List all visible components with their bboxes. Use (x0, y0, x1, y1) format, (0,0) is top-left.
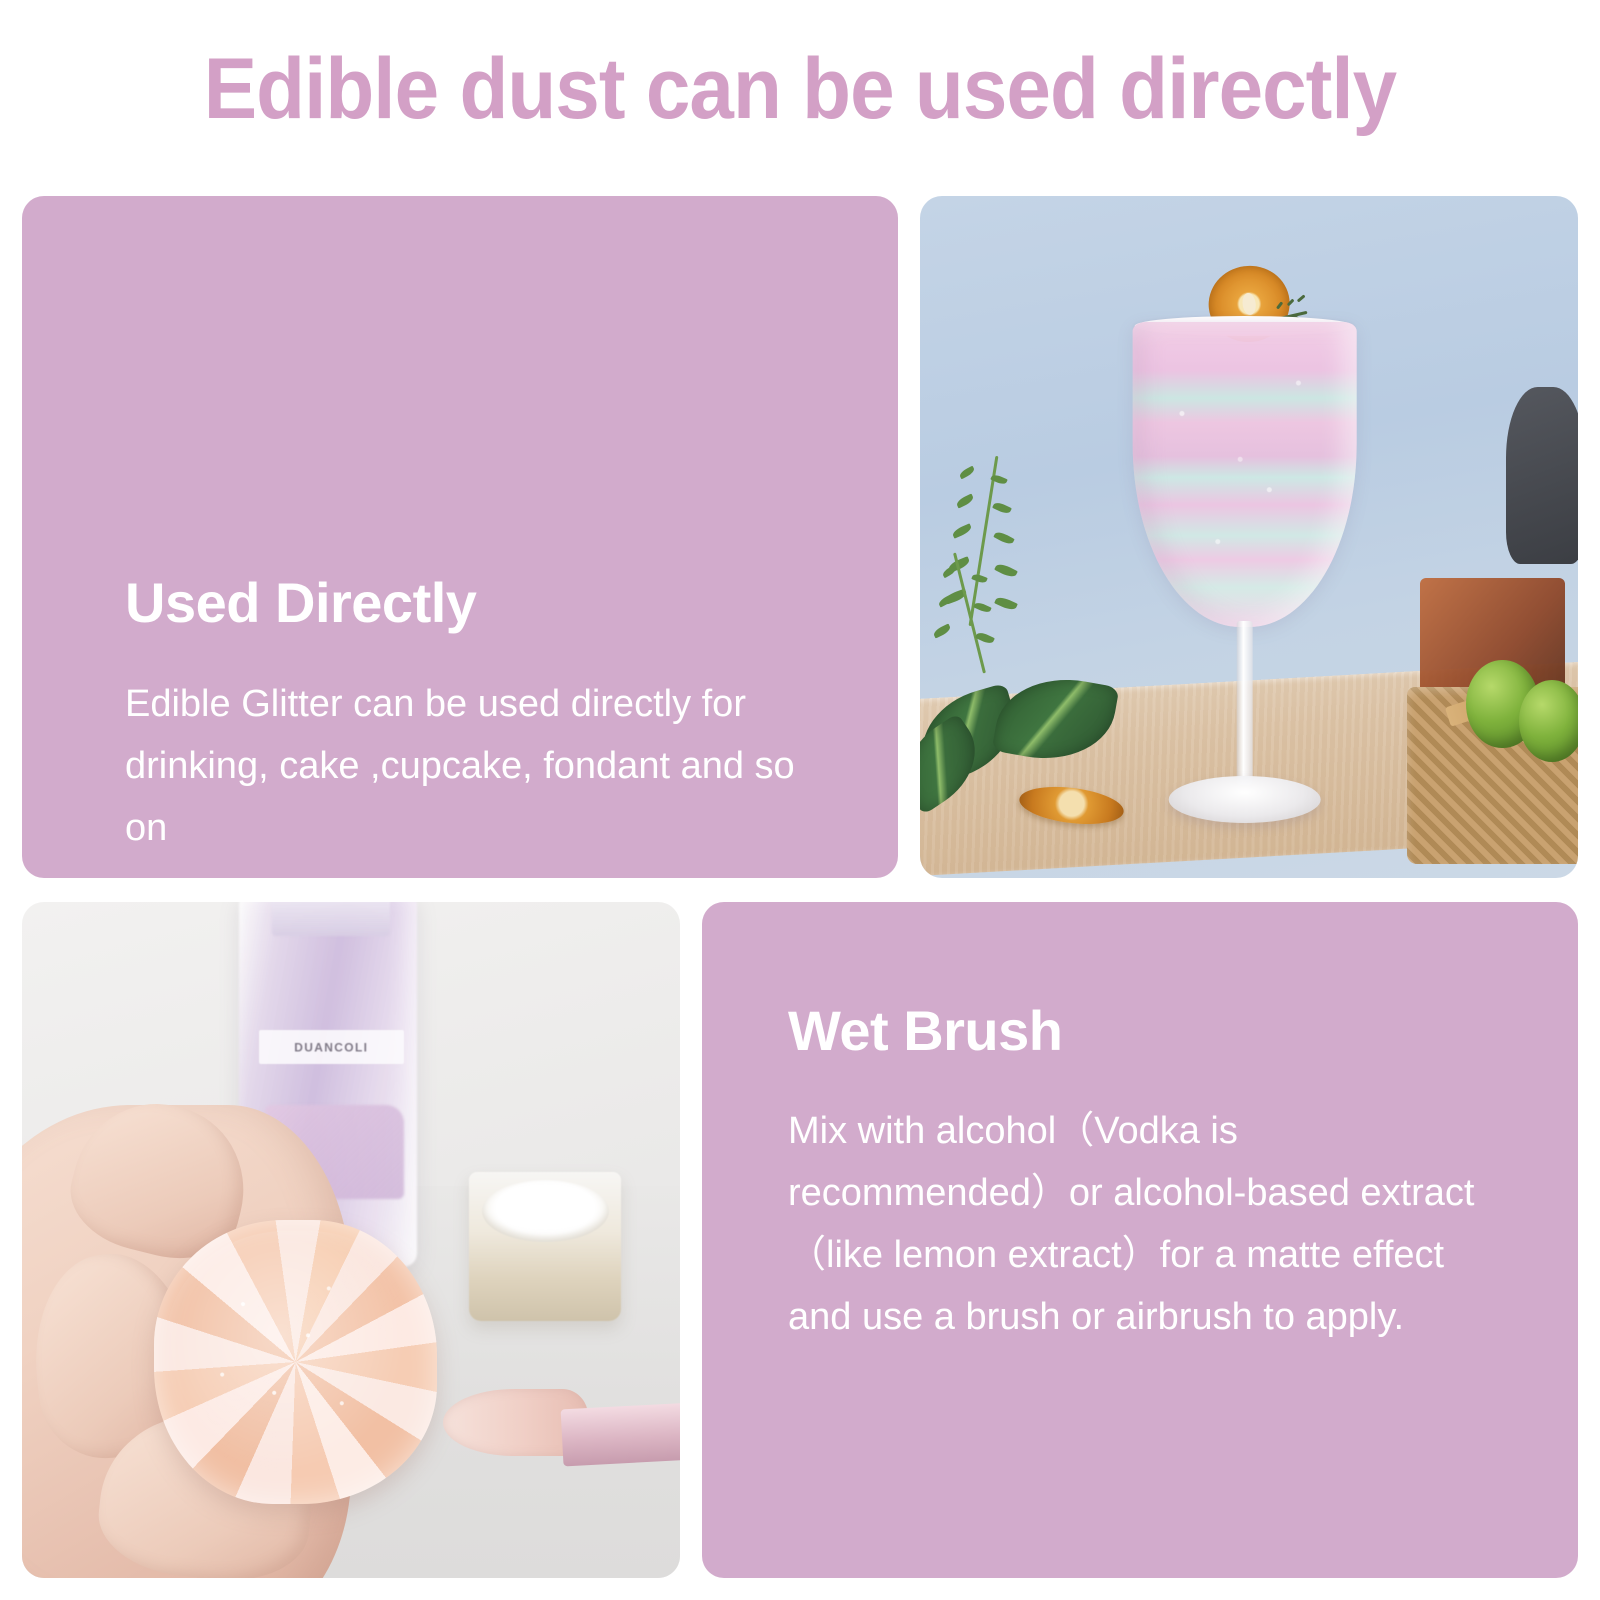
glitter-candy (154, 1220, 437, 1504)
bottle-cap (272, 902, 390, 936)
card-wet-brush-heading: Wet Brush (788, 1002, 1063, 1061)
glass-foot (1168, 776, 1320, 823)
card-used-directly-heading: Used Directly (125, 574, 476, 633)
bottle-label-text: DUANCOLI (294, 1040, 368, 1054)
glass-stem (1237, 621, 1253, 785)
cocktail-scene (920, 196, 1578, 878)
glass-bowl-with-glitter-drink (1133, 322, 1357, 627)
page-title: Edible dust can be used directly (56, 46, 1544, 132)
background-object (1506, 387, 1578, 564)
card-used-directly-body: Edible Glitter can be used directly for … (125, 673, 825, 859)
wine-glass (1133, 257, 1357, 844)
striped-leaves (920, 653, 1163, 803)
bottle-label: DUANCOLI (259, 1030, 404, 1064)
cocktail-photo (920, 196, 1578, 878)
card-wet-brush: Wet Brush Mix with alcohol（Vodka is reco… (702, 902, 1578, 1578)
brush-scene: DUANCOLI (22, 902, 680, 1578)
jar-lid (469, 1172, 620, 1321)
card-used-directly: Used Directly Edible Glitter can be used… (22, 196, 898, 878)
makeup-brush-handle (560, 1402, 680, 1466)
card-wet-brush-body: Mix with alcohol（Vodka is recommended）or… (788, 1100, 1508, 1348)
brush-photo: DUANCOLI (22, 902, 680, 1578)
lime-icon (1519, 680, 1578, 762)
